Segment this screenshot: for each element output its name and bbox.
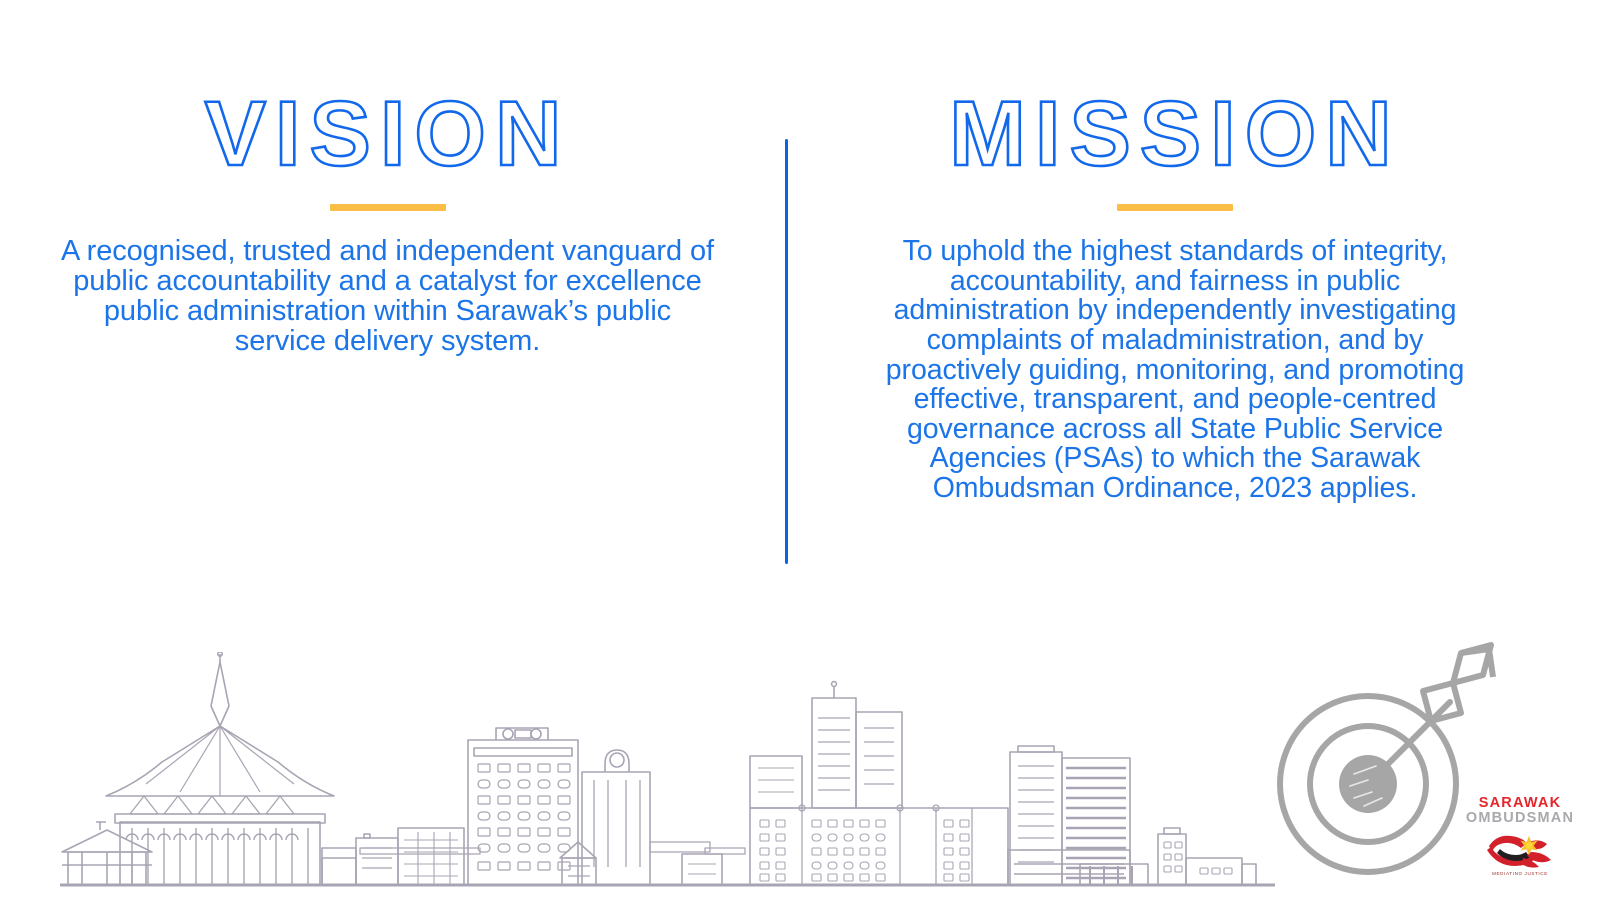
logo-tagline: MEDIATING JUSTICE: [1455, 871, 1585, 876]
logo-line-sarawak: SARAWAK: [1455, 796, 1585, 811]
column-divider: [785, 139, 788, 564]
sarawak-ombudsman-logo: SARAWAK OMBUDSMAN MEDIATING JUSTICE: [1455, 796, 1585, 888]
mission-underline-bar: [1117, 204, 1233, 211]
skyline-podium-grid: [750, 805, 1008, 885]
vision-heading: VISION: [60, 88, 715, 180]
logo-line-ombudsman: OMBUDSMAN: [1455, 811, 1585, 826]
skyline-pagoda: [106, 652, 334, 885]
vision-mission-columns: VISION A recognised, trusted and indepen…: [0, 0, 1600, 600]
mission-heading-block: MISSION: [865, 88, 1485, 211]
skyline-low-block-a: [322, 834, 398, 885]
city-skyline-illustration: [60, 652, 1275, 892]
skyline-right-small: [1080, 828, 1256, 885]
skyline-dome-block: [582, 750, 650, 885]
skyline-block-b: [398, 828, 464, 885]
mission-heading: MISSION: [865, 88, 1485, 180]
vision-heading-block: VISION: [60, 88, 715, 211]
mission-column: MISSION To uphold the highest standards …: [865, 0, 1485, 600]
skyline-pavilion-small: [62, 822, 152, 885]
mission-body-text: To uphold the highest standards of integ…: [865, 237, 1485, 504]
vision-body-text: A recognised, trusted and independent va…: [60, 237, 715, 356]
vision-column: VISION A recognised, trusted and indepen…: [60, 0, 715, 600]
vision-underline-bar: [330, 204, 446, 211]
hornbill-emblem-icon: [1455, 828, 1585, 870]
skyline-twin-towers: [750, 682, 902, 808]
